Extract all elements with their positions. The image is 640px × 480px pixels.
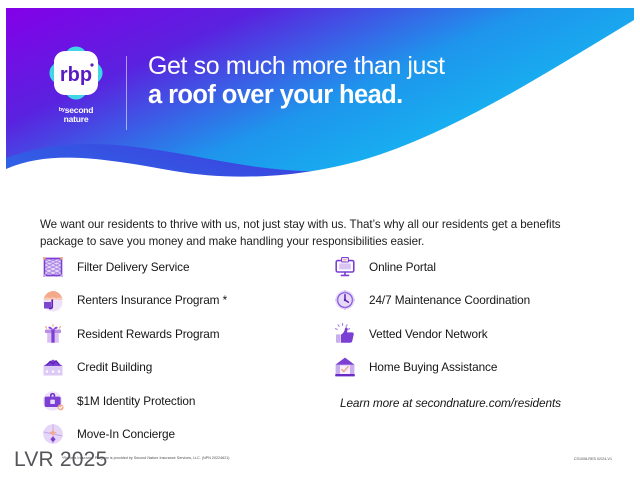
benefit-item-resident-rewards-program: Resident Rewards Program xyxy=(40,317,330,351)
benefit-item-online-portal: Online Portal xyxy=(332,250,622,284)
benefit-label: Home Buying Assistance xyxy=(369,360,497,374)
intro-paragraph: We want our residents to thrive with us,… xyxy=(40,216,592,250)
benefit-label: Filter Delivery Service xyxy=(77,260,189,274)
benefit-item-renters-insurance-program: Renters Insurance Program * xyxy=(40,284,330,318)
benefit-label: Credit Building xyxy=(77,360,152,374)
hero-headline: Get so much more than just a roof over y… xyxy=(148,52,578,110)
rbp-badge-icon: rbp xyxy=(45,42,107,104)
benefit-label: $1M Identity Protection xyxy=(77,394,195,408)
house-check-icon xyxy=(332,354,358,380)
benefit-label: Vetted Vendor Network xyxy=(369,327,488,341)
footer-doc-code: CS1008-RES 02/24-V1 xyxy=(574,457,612,461)
learn-more-text: Learn more at secondnature.com/residents xyxy=(340,396,622,410)
monitor-icon xyxy=(332,254,358,280)
logo-subtitle: bysecond nature xyxy=(38,106,114,123)
briefcase-lock-icon xyxy=(40,388,66,414)
benefit-label: Online Portal xyxy=(369,260,436,274)
rbp-logo: rbp bysecond nature xyxy=(38,42,114,134)
clock-icon xyxy=(332,287,358,313)
benefit-label: Resident Rewards Program xyxy=(77,327,220,341)
benefit-item-identity-protection: $1M Identity Protection xyxy=(40,384,330,418)
credit-chart-icon xyxy=(40,354,66,380)
benefit-label: Move-In Concierge xyxy=(77,427,175,441)
air-filter-icon xyxy=(40,254,66,280)
benefit-item-move-in-concierge: Move-In Concierge xyxy=(40,418,330,452)
benefit-label: Renters Insurance Program * xyxy=(77,293,227,307)
benefit-item-home-buying-assistance: Home Buying Assistance xyxy=(332,351,622,385)
benefit-item-maintenance-coordination: 24/7 Maintenance Coordination xyxy=(332,284,622,318)
benefit-item-filter-delivery-service: Filter Delivery Service xyxy=(40,250,330,284)
hero-banner: rbp bysecond nature Get so much more tha… xyxy=(6,8,634,178)
gift-icon xyxy=(40,321,66,347)
benefit-item-vetted-vendor-network: Vetted Vendor Network xyxy=(332,317,622,351)
watermark-label: LVR 2025 xyxy=(14,448,107,472)
flyer-page: rbp bysecond nature Get so much more tha… xyxy=(0,0,640,480)
thumbs-up-icon xyxy=(332,321,358,347)
headline-line-2: a roof over your head. xyxy=(148,81,578,110)
benefits-column-right: Online Portal 24/7 Maintenance Coordinat… xyxy=(332,250,622,410)
svg-text:rbp: rbp xyxy=(60,64,92,86)
benefits-column-left: Filter Delivery Service Renters Insuranc… xyxy=(40,250,330,451)
benefit-item-credit-building: Credit Building xyxy=(40,351,330,385)
benefit-label: 24/7 Maintenance Coordination xyxy=(369,293,530,307)
headline-line-1: Get so much more than just xyxy=(148,52,578,81)
concierge-sparkle-icon xyxy=(40,421,66,447)
logo-nature-text: nature xyxy=(64,114,89,124)
logo-divider xyxy=(126,56,127,130)
umbrella-icon xyxy=(40,287,66,313)
